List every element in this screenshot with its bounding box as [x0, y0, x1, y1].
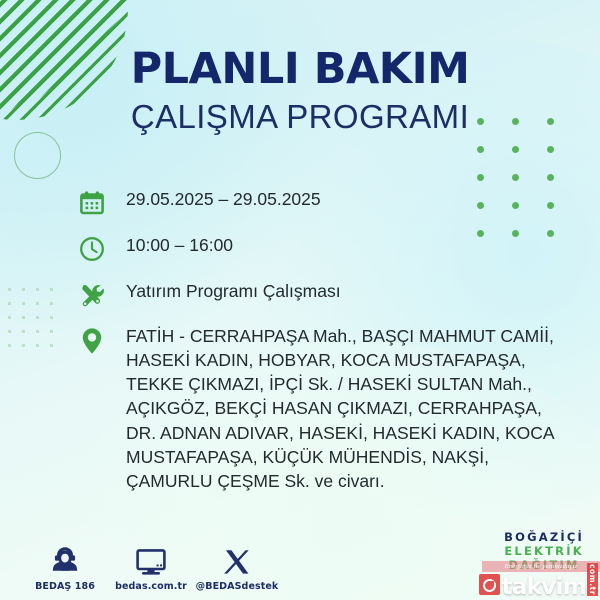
- dot: [512, 174, 519, 181]
- dot: [8, 316, 11, 319]
- dot: [50, 330, 53, 333]
- dot: [22, 330, 25, 333]
- dot: [50, 316, 53, 319]
- clock-icon: [78, 235, 106, 263]
- contact-x-label: @BEDASdestek: [194, 581, 280, 592]
- dot: [8, 330, 11, 333]
- contact-channels: BEDAŞ 186 bedas.com.tr: [22, 546, 280, 592]
- dot-grid-left-decoration: [8, 288, 64, 358]
- dot: [22, 288, 25, 291]
- dot: [36, 330, 39, 333]
- location-text: FATİH - CERRAHPAŞA Mah., BAŞÇI MAHMUT CA…: [126, 324, 574, 493]
- monitor-icon: [108, 546, 194, 576]
- dot: [22, 316, 25, 319]
- takvim-watermark: takvim com.tr: [479, 563, 598, 598]
- dot-row: [8, 330, 64, 344]
- dot: [22, 344, 25, 347]
- dot: [8, 302, 11, 305]
- dot-row: [477, 146, 582, 174]
- dot: [36, 316, 39, 319]
- dot-row: [8, 288, 64, 302]
- dot: [477, 174, 484, 181]
- planned-maintenance-poster: PLANLI BAKIM ÇALIŞMA PROGRAMI 29: [0, 0, 600, 600]
- contact-x-account[interactable]: @BEDASdestek: [194, 546, 280, 592]
- circle-outline-decoration: [14, 132, 61, 179]
- page-title: PLANLI BAKIM: [0, 48, 600, 91]
- watermark-text: takvim: [502, 577, 586, 598]
- poster-header: PLANLI BAKIM ÇALIŞMA PROGRAMI: [0, 48, 600, 133]
- time-range-text: 10:00 – 16:00: [126, 234, 233, 255]
- work-type-text: Yatırım Programı Çalışması: [126, 280, 341, 301]
- dot: [22, 302, 25, 305]
- dot-row: [8, 302, 64, 316]
- dot: [50, 302, 53, 305]
- x-twitter-icon: [194, 546, 280, 576]
- poster-footer: BEDAŞ 186 bedas.com.tr: [0, 526, 600, 600]
- turkish-flag-icon: [479, 574, 500, 595]
- dot: [8, 288, 11, 291]
- dot: [8, 344, 11, 347]
- brand-line-1: BOĞAZİÇİ: [504, 530, 584, 544]
- watermark-tld: com.tr: [587, 563, 598, 596]
- dot: [50, 344, 53, 347]
- page-subtitle: ÇALIŞMA PROGRAMI: [0, 100, 600, 133]
- dot-row: [8, 316, 64, 330]
- dot-row: [8, 344, 64, 358]
- dot: [50, 288, 53, 291]
- dot: [547, 146, 554, 153]
- map-pin-icon: [78, 327, 106, 355]
- dot: [36, 344, 39, 347]
- detail-row-location: FATİH - CERRAHPAŞA Mah., BAŞÇI MAHMUT CA…: [78, 326, 574, 493]
- calendar-icon: [78, 189, 106, 217]
- detail-row-date: 29.05.2025 – 29.05.2025: [78, 188, 574, 217]
- detail-row-work-type: Yatırım Programı Çalışması: [78, 280, 574, 309]
- contact-phone-label: BEDAŞ 186: [22, 581, 108, 592]
- dot: [477, 146, 484, 153]
- call-center-agent-icon: [22, 546, 108, 576]
- date-range-text: 29.05.2025 – 29.05.2025: [126, 188, 321, 209]
- dot: [36, 288, 39, 291]
- contact-website[interactable]: bedas.com.tr: [108, 546, 194, 592]
- dot: [512, 146, 519, 153]
- brand-line-2: ELEKTRİK: [504, 544, 584, 558]
- maintenance-details: 29.05.2025 – 29.05.2025 10:00 – 16:00: [78, 188, 574, 493]
- detail-row-time: 10:00 – 16:00: [78, 234, 574, 263]
- contact-phone[interactable]: BEDAŞ 186: [22, 546, 108, 592]
- dot: [547, 174, 554, 181]
- dot: [36, 302, 39, 305]
- tools-icon: [78, 281, 106, 309]
- contact-website-label: bedas.com.tr: [108, 581, 194, 592]
